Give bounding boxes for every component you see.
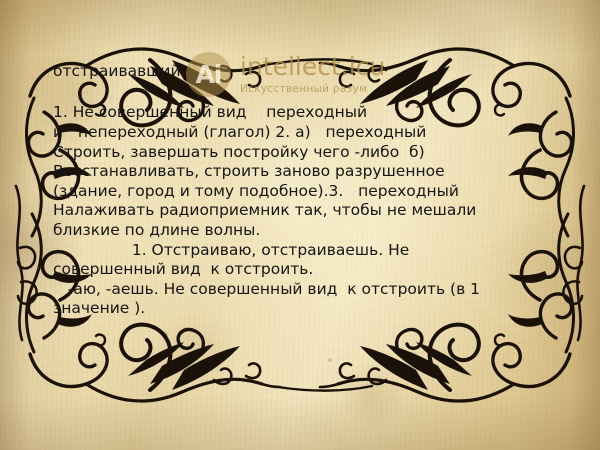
entry-line: (здание, город и тому подобное).3. перех… bbox=[53, 182, 545, 202]
entry-line: совершенный вид к отстроить. bbox=[53, 260, 545, 280]
dictionary-entry-card: Ai intellect.icu Искусственный разум отс… bbox=[0, 0, 600, 450]
entry-line: значение ). bbox=[53, 299, 545, 319]
entry-line: Восстанавливать, строить заново разрушен… bbox=[53, 162, 545, 182]
entry-line: 1. Отстраиваю, отстраиваешь. Не bbox=[53, 241, 545, 261]
entry-line: -аю, -аешь. Не совершенный вид к отстрои… bbox=[53, 280, 545, 300]
entry-line: 1. Не совершенный вид переходный bbox=[53, 103, 545, 123]
entry-line: и непереходный (глагол) 2. а) переходный bbox=[53, 123, 545, 143]
page-title: отстраивавший bbox=[53, 62, 545, 81]
entry-content: отстраивавший 1. Не совершенный вид пере… bbox=[53, 62, 545, 319]
entry-line: близкие по длине волны. bbox=[53, 221, 545, 241]
entry-definition-body: 1. Не совершенный вид переходный и непер… bbox=[53, 103, 545, 319]
entry-line: Строить, завершать постройку чего -либо … bbox=[53, 143, 545, 163]
entry-line: Налаживать радиоприемник так, чтобы не м… bbox=[53, 201, 545, 221]
